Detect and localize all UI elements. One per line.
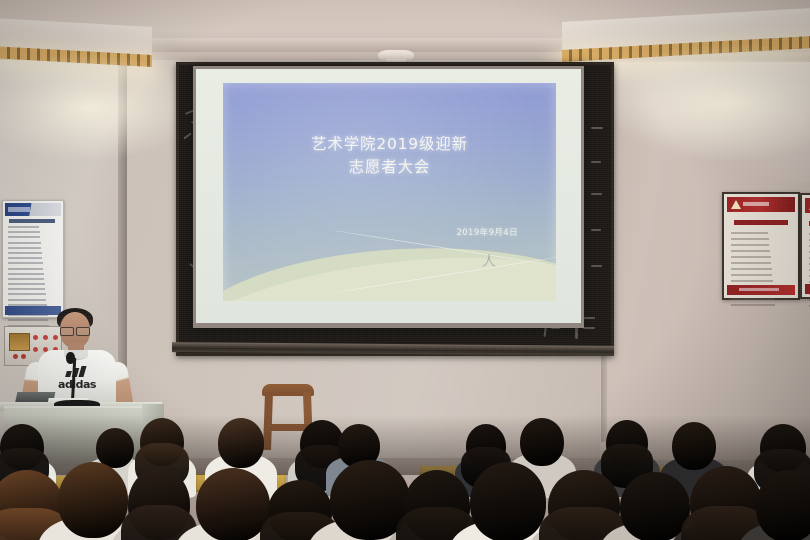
notice-board-title: [9, 219, 55, 223]
wall-poster-2: [800, 193, 810, 299]
right-wall-highlight: [606, 62, 810, 182]
audience-member-head: [196, 468, 270, 540]
lecture-hall-photo: 艺术学院2019级迎新 志愿者大会 2019年9月4日 人: [0, 0, 810, 540]
audience-member-head: [96, 428, 134, 468]
slide-scribble-mark: 人: [482, 251, 498, 267]
smoke-detector-icon: [378, 50, 414, 62]
audience-member-head: [620, 472, 690, 540]
poster-1-header: [727, 197, 795, 212]
wall-poster-1: [722, 192, 800, 300]
notice-board-text: [8, 226, 58, 340]
control-panel-display: [9, 333, 30, 351]
slide-title-line-1: 艺术学院2019级迎新: [223, 133, 556, 156]
poster-2-header: [805, 198, 810, 213]
presentation-slide: 艺术学院2019级迎新 志愿者大会 2019年9月4日 人: [223, 83, 556, 301]
audience-member-head: [470, 462, 546, 540]
poster-1-title: [734, 220, 787, 225]
poster-1-text: [731, 232, 791, 278]
slide-title: 艺术学院2019级迎新 志愿者大会: [223, 133, 556, 179]
notice-board-footer: [5, 306, 61, 315]
notice-board-left: [2, 200, 64, 318]
speaker-shirt-brand: adidas: [52, 378, 102, 391]
slide-date: 2019年9月4日: [456, 226, 518, 238]
audience-member-head: [672, 422, 716, 470]
projection-screen: 艺术学院2019级迎新 志愿者大会 2019年9月4日 人: [193, 66, 584, 328]
adidas-logo-icon: [66, 366, 88, 377]
slide-title-line-2: 志愿者大会: [223, 156, 556, 179]
audience-member-head: [218, 418, 264, 468]
audience-member-head: [520, 418, 564, 466]
projection-screen-surface: 艺术学院2019级迎新 志愿者大会 2019年9月4日 人: [196, 69, 581, 323]
audience-member-head: [58, 462, 128, 538]
speaker-glasses: [60, 327, 90, 334]
poster-2-footer: [805, 284, 810, 294]
poster-1-footer: [727, 285, 795, 295]
notice-board-header: [5, 203, 61, 216]
audience-member-head: [756, 470, 810, 540]
